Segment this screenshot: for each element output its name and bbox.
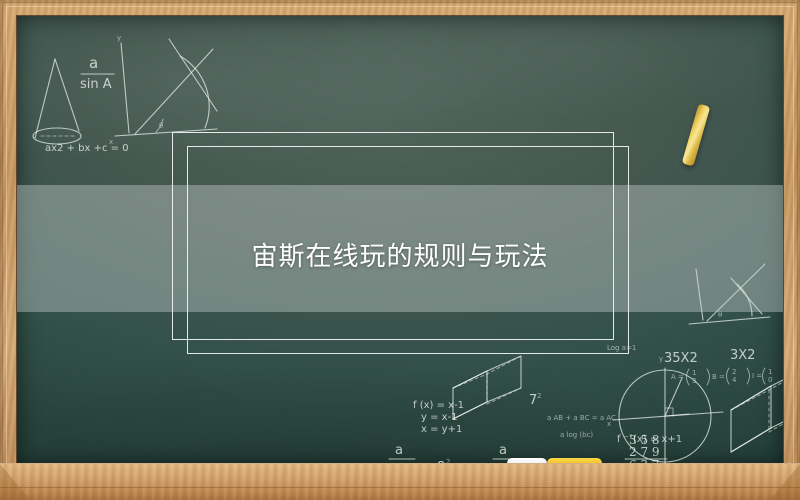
chalk-cone-diagram: [33, 59, 81, 144]
chalk-text-3x2: 3X2: [730, 348, 755, 363]
chalk-cube-right: [731, 366, 783, 452]
chalk-cube-left: [453, 356, 521, 419]
chalk-function-equations: f (x) = x-1 y = x-1 x = y+1: [413, 400, 464, 435]
chalk-text-log-bc: a log (bc): [560, 431, 593, 439]
svg-text:3: 3: [692, 377, 696, 385]
svg-text:x: x: [109, 138, 113, 146]
chalk-text-triangle-rule: a AB + a BC = a AC: [547, 414, 616, 422]
chalk-angle-diagram-right: θ: [689, 264, 770, 324]
tray-miter-right: [770, 464, 800, 500]
chalk-text-sina-den: sin A: [80, 77, 112, 92]
chalk-circle-diagram: y x: [607, 355, 723, 464]
chalk-text-35x2: 35X2: [664, 351, 698, 366]
svg-text:3 5 8: 3 5 8: [629, 433, 660, 447]
svg-text:y: y: [659, 355, 663, 363]
svg-text:y: y: [117, 34, 121, 42]
svg-text:B =: B =: [712, 373, 725, 381]
svg-text:A =: A =: [671, 373, 684, 381]
chalkboard-banner: a sin A ax2 + bx +c = 0 y x θ: [0, 0, 800, 500]
svg-text:2: 2: [732, 368, 736, 376]
chalk-angle-diagram-left: y x θ: [109, 34, 217, 146]
svg-text:θ: θ: [159, 122, 163, 130]
tray-miter-left: [0, 464, 30, 500]
svg-text:0: 0: [768, 376, 772, 384]
chalk-text-seven: 7: [529, 393, 537, 408]
chalk-text-inverse-fn: f ⁻¹(x) = x+1: [617, 434, 682, 445]
svg-text:4: 4: [732, 376, 737, 384]
chalk-matrix-row: A = 1 3 B = 2 4 I = 1 0: [671, 368, 772, 385]
svg-text:1: 1: [768, 368, 772, 376]
chalkboard-surface: a sin A ax2 + bx +c = 0 y x θ: [17, 16, 783, 464]
chalk-text-a-num-2: a: [395, 443, 403, 458]
svg-text:2 7 9: 2 7 9: [629, 445, 660, 459]
page-title: 宙斯在线玩的规则与玩法: [17, 236, 783, 273]
svg-text:θ: θ: [718, 311, 722, 319]
svg-text:y = x-1: y = x-1: [421, 412, 458, 423]
svg-text:I =: I =: [752, 372, 762, 380]
svg-text:x: x: [607, 420, 611, 428]
chalk-text-log-a: Log a=1: [607, 344, 636, 352]
chalk-long-sum: 3 5 8 2 7 9 6 3 7: [625, 433, 667, 464]
chalk-text-a-num-3: a: [499, 443, 507, 458]
chalk-text-seven-exp: 2: [537, 392, 541, 400]
chalk-text-a-num: a: [89, 54, 98, 72]
chalk-tray: [0, 463, 800, 500]
svg-text:x = y+1: x = y+1: [421, 424, 462, 435]
chalk-stick-yellow-top: [682, 104, 711, 167]
svg-text:f (x) = x-1: f (x) = x-1: [413, 400, 464, 411]
svg-text:1: 1: [692, 369, 696, 377]
chalk-text-quadratic: ax2 + bx +c = 0: [45, 143, 129, 154]
tray-lip: [0, 487, 800, 488]
